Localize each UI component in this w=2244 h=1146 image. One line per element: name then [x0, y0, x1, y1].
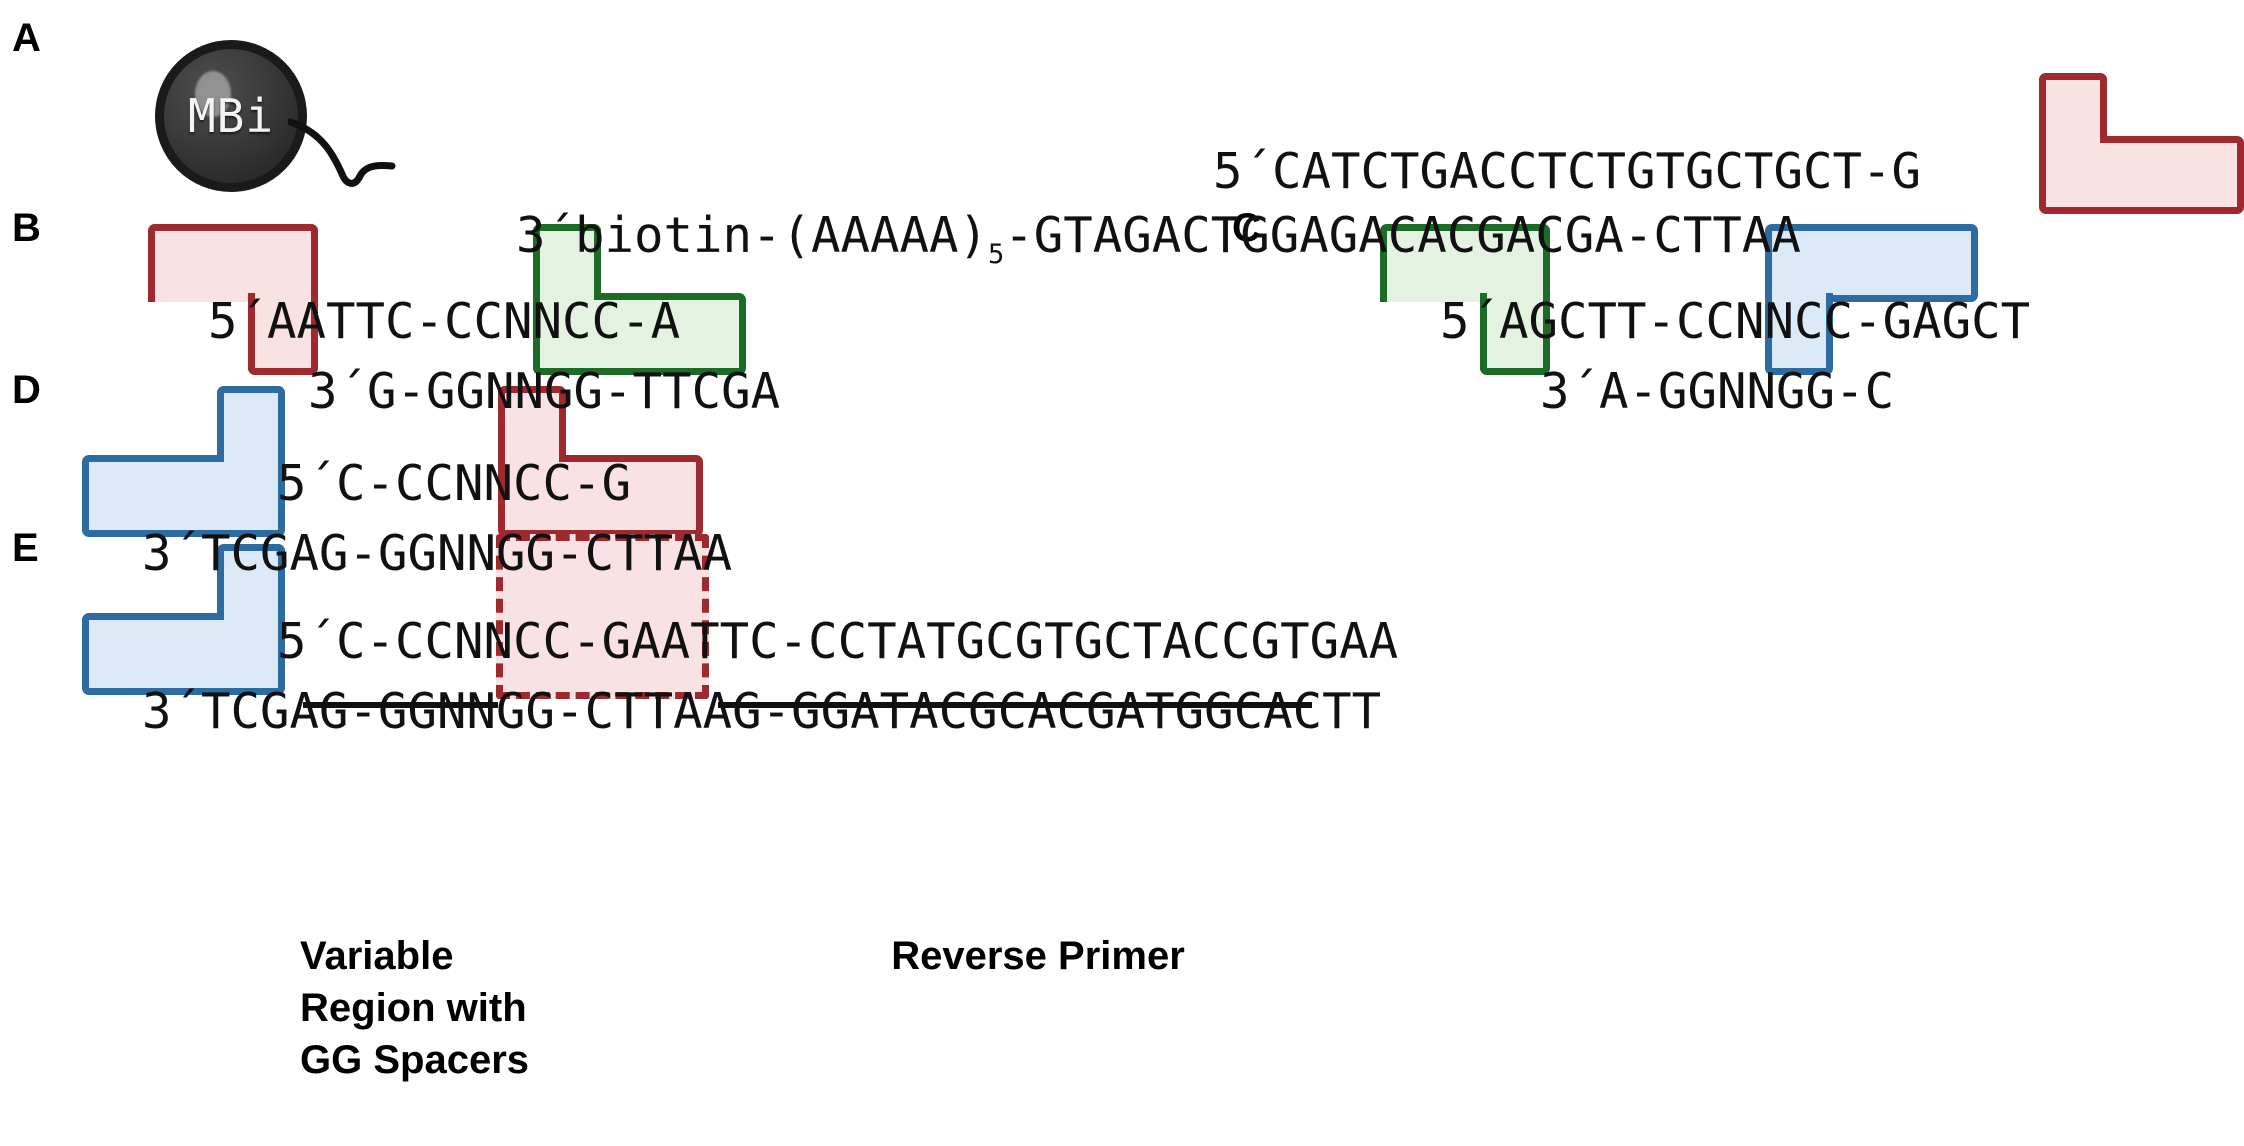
reverse-primer-caption: Reverse Primer	[758, 930, 1318, 982]
panel-a-red-box-bottom	[2039, 136, 2244, 214]
panel-b-bottom-right-boxed: TTCGA	[633, 363, 781, 420]
panel-e-bottom-boxed: TCGAG	[201, 683, 349, 740]
panel-c-bottom-boxed: A	[1599, 363, 1629, 420]
magnetic-bead: MBi	[155, 40, 307, 192]
panel-e-bottom-label: 3´	[142, 683, 201, 740]
panel-c-bottom-label: 3´	[1540, 363, 1599, 420]
panel-letter-b: B	[12, 208, 41, 248]
panel-c-bottom-right-boxed: C	[1865, 363, 1895, 420]
panel-letter-d: D	[12, 370, 41, 410]
panel-e-bottom-site: CTTAAG	[585, 683, 762, 740]
panel-letter-a: A	[12, 18, 41, 58]
panel-a-red-box-joint	[2046, 133, 2100, 147]
bead-circle: MBi	[155, 40, 307, 192]
panel-c-top-right-boxed: GAGCT	[1883, 293, 2031, 350]
panel-c-bottom-strand: 3´A-GGNNGG-C	[1422, 296, 1894, 488]
panel-a-bottom-subscript: 5	[988, 239, 1004, 270]
panel-e-bottom-dash: -	[762, 683, 792, 740]
linker-icon	[288, 118, 398, 198]
panel-e-bottom-primer: GGATACGCACGATGGCACTT	[791, 683, 1381, 740]
panel-e-bottom-mid: -GGNNGG-	[349, 683, 585, 740]
panel-c-bottom-mid: -GGNNGG-	[1629, 363, 1865, 420]
panel-e-bottom-strand: 3´TCGAG-GGNNGG-CTTAAG-GGATACGCACGATGGCAC…	[24, 616, 1381, 808]
bead-label: MBi	[164, 49, 298, 183]
panel-a-top-overhang: G	[1892, 143, 1922, 200]
variable-region-caption: Variable Region with GG Spacers	[300, 930, 630, 1086]
